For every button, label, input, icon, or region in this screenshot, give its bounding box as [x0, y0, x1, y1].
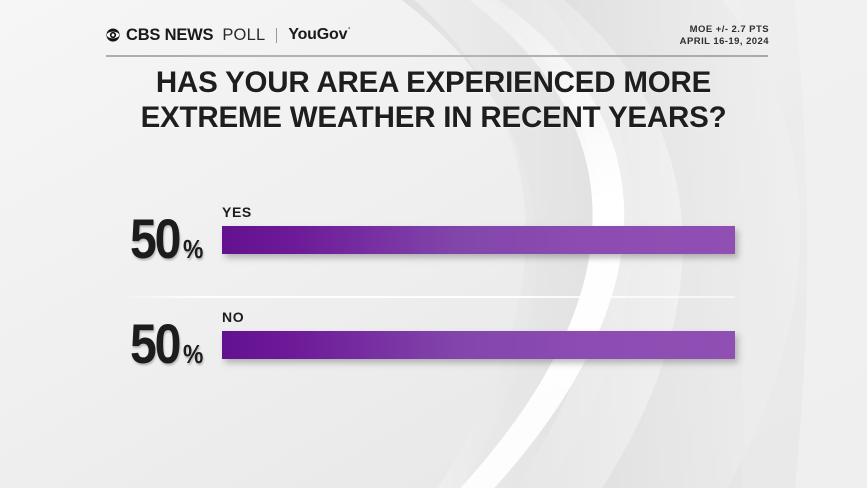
cbs-news-wordmark: CBS NEWS [126, 27, 213, 44]
margin-of-error: MOE +/- 2.7 PTS [680, 24, 769, 36]
logo-divider [276, 28, 277, 43]
bar-track-yes [222, 226, 735, 254]
percent-sign-yes: % [183, 236, 202, 262]
cbs-news-poll-yougov-logo: CBS NEWS POLL YouGov˚ [106, 27, 350, 44]
yougov-text: YouGov [288, 26, 347, 43]
poll-wordmark: POLL [222, 27, 265, 44]
result-value-yes: 50 [130, 213, 179, 265]
yougov-wordmark: YouGov˚ [288, 27, 350, 43]
result-value-no: 50 [130, 318, 179, 370]
page-title-line-1: HAS YOUR AREA EXPERIENCED MORE [96, 66, 771, 101]
result-row-yes: 50 % YES [0, 205, 867, 310]
result-row-no: 50 % NO [0, 310, 867, 415]
bar-fill-yes [222, 226, 735, 254]
bar-track-no [222, 331, 735, 359]
results-divider [130, 296, 735, 298]
poll-dates: APRIL 16-19, 2024 [680, 36, 769, 48]
bar-fill-no [222, 331, 735, 359]
bar-label-yes: YES [222, 205, 735, 219]
bar-zone-yes: YES [222, 205, 735, 254]
bar-zone-no: NO [222, 310, 735, 359]
cbs-eye-icon [106, 28, 120, 42]
page-title-line-2: EXTREME WEATHER IN RECENT YEARS? [96, 101, 771, 136]
poll-meta: MOE +/- 2.7 PTS APRIL 16-19, 2024 [680, 24, 769, 48]
poll-results: 50 % YES 50 % NO [0, 205, 867, 415]
result-percentage-yes: 50 % [130, 213, 205, 265]
percent-sign-no: % [183, 341, 202, 367]
poll-graphic: CBS NEWS POLL YouGov˚ MOE +/- 2.7 PTS AP… [0, 0, 867, 488]
header-rule [106, 55, 768, 57]
bar-label-no: NO [222, 310, 735, 324]
page-title: HAS YOUR AREA EXPERIENCED MORE EXTREME W… [0, 66, 867, 136]
result-percentage-no: 50 % [130, 318, 205, 370]
yougov-trademark-icon: ˚ [348, 28, 350, 35]
